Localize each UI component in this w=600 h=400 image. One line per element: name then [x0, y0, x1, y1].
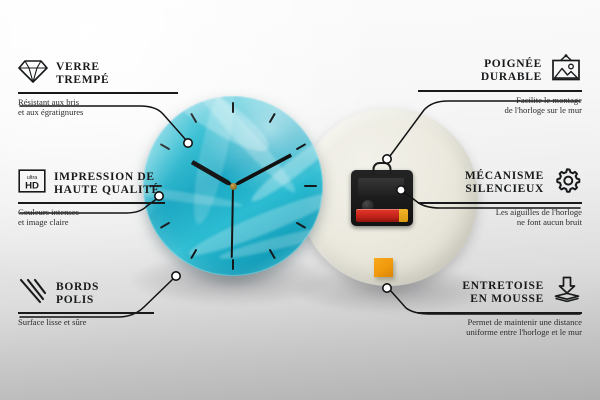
clock-tick — [233, 185, 323, 187]
foam-spacer — [374, 258, 393, 277]
callout-desc: Couleurs intenses et image claire — [18, 207, 165, 228]
callout-head: ENTRETOISE EN MOUSSE — [418, 276, 582, 309]
callout-rule — [418, 202, 582, 204]
callout-rule — [418, 90, 582, 92]
battery — [356, 209, 408, 222]
callout-poignee-durable[interactable]: POIGNÉE DURABLE Facilite le montage de l… — [418, 54, 582, 115]
callout-verre-trempe[interactable]: VERRE TREMPÉ Résistant aux bris et aux é… — [18, 58, 178, 117]
callout-title: POIGNÉE DURABLE — [481, 58, 542, 83]
callout-rule — [18, 312, 154, 314]
diamond-icon — [18, 58, 48, 89]
hanging-hook-icon — [373, 162, 392, 175]
picture-frame-icon — [550, 54, 582, 87]
callout-title: VERRE TREMPÉ — [56, 61, 109, 86]
callout-desc: Permet de maintenir une distance uniform… — [418, 317, 582, 338]
clock-front-view — [143, 96, 323, 276]
gear-icon — [552, 166, 582, 199]
callout-title: BORDS POLIS — [56, 281, 99, 306]
callout-impression[interactable]: ultra HD IMPRESSION DE HAUTE QUALITÉ Cou… — [18, 168, 165, 227]
callout-desc: Résistant aux bris et aux égratignures — [18, 97, 178, 118]
svg-text:HD: HD — [25, 181, 39, 192]
callout-rule — [18, 92, 178, 94]
callout-head: POIGNÉE DURABLE — [418, 54, 582, 87]
callout-title: MÉCANISME SILENCIEUX — [465, 170, 544, 195]
callout-bords-polis[interactable]: BORDS POLIS Surface lisse et sûre — [18, 278, 154, 327]
ultra-hd-icon: ultra HD — [18, 168, 46, 199]
callout-rule — [418, 312, 582, 314]
callout-head: VERRE TREMPÉ — [18, 58, 178, 89]
arrow-press-stack-icon — [552, 276, 582, 309]
movement-housing-detail — [358, 178, 404, 196]
battery-terminal — [399, 209, 408, 222]
quartz-movement — [351, 170, 413, 226]
callout-head: ultra HD IMPRESSION DE HAUTE QUALITÉ — [18, 168, 165, 199]
callout-rule — [18, 202, 165, 204]
clock-tick — [232, 96, 234, 186]
callout-mecanisme-silencieux[interactable]: MÉCANISME SILENCIEUX Les aiguilles de l'… — [418, 166, 582, 227]
hands-center-cap — [230, 183, 237, 190]
callout-head: MÉCANISME SILENCIEUX — [418, 166, 582, 199]
callout-head: BORDS POLIS — [18, 278, 154, 309]
callout-desc: Les aiguilles de l'horloge ne font aucun… — [418, 207, 582, 228]
product-infographic: VERRE TREMPÉ Résistant aux bris et aux é… — [0, 0, 600, 400]
callout-title: IMPRESSION DE HAUTE QUALITÉ — [54, 171, 160, 196]
callout-desc: Facilite le montage de l'horloge sur le … — [418, 95, 582, 116]
callout-desc: Surface lisse et sûre — [18, 317, 154, 327]
callout-entretoise-mousse[interactable]: ENTRETOISE EN MOUSSE Permet de maintenir… — [418, 276, 582, 337]
diagonal-lines-icon — [18, 278, 48, 309]
callout-title: ENTRETOISE EN MOUSSE — [462, 280, 544, 305]
